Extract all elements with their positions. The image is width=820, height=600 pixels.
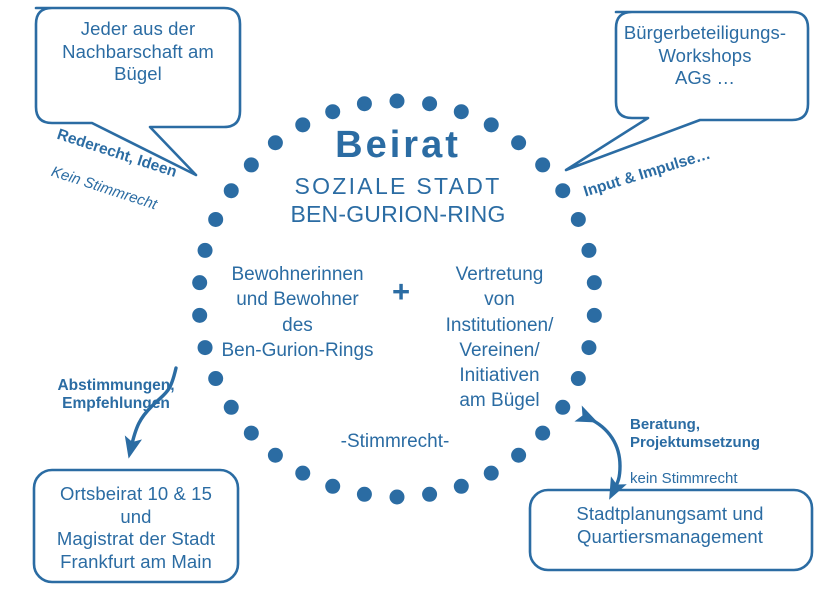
page-subtitle-primary: SOZIALE STADT — [253, 175, 543, 198]
callout-neighbourhood-label: Jeder aus der Nachbarschaft am Bügel — [34, 18, 242, 86]
ring-dot — [555, 183, 570, 198]
ring-dot — [571, 212, 586, 227]
ring-dot — [357, 96, 372, 111]
ring-dot — [390, 490, 405, 505]
diagram-canvas: Jeder aus der Nachbarschaft am Bügel Bür… — [0, 0, 820, 600]
ring-dot — [357, 487, 372, 502]
page-title: Beirat — [253, 126, 543, 164]
callout-participation-label: Bürgerbeteiligungs- Workshops AGs … — [606, 22, 804, 90]
ring-dot — [581, 340, 596, 355]
ring-dot — [224, 400, 239, 415]
ring-dot — [268, 448, 283, 463]
annotation-beratung-regular: kein Stimmrecht — [630, 470, 790, 488]
ring-dot — [295, 466, 310, 481]
ring-dot — [390, 94, 405, 109]
ring-dot — [484, 466, 499, 481]
annotation-abstimmungen: Abstimmungen, Empfehlungen — [46, 358, 186, 432]
annotation-beratung-bold: Beratung, Projektumsetzung — [630, 416, 790, 452]
box-stadtplanungsamt-label: Stadtplanungsamt und Quartiersmanagement — [536, 503, 804, 548]
ring-dot — [208, 371, 223, 386]
ring-dot — [422, 96, 437, 111]
ring-dot — [244, 426, 259, 441]
ring-dot — [581, 243, 596, 258]
ring-dot — [587, 308, 602, 323]
ring-column-institutions: Vertretung von Institutionen/ Vereinen/ … — [422, 262, 577, 414]
ring-dot — [454, 104, 469, 119]
page-subtitle-secondary: BEN-GURION-RING — [253, 203, 543, 226]
annotation-beratung: Beratung, Projektumsetzung kein Stimmrec… — [630, 398, 790, 506]
ring-dot — [587, 275, 602, 290]
ring-column-residents: Bewohnerinnen und Bewohner des Ben-Gurio… — [205, 262, 390, 363]
box-ortsbeirat-label: Ortsbeirat 10 & 15 und Magistrat der Sta… — [40, 483, 232, 573]
ring-dot — [325, 104, 340, 119]
ring-dot — [325, 479, 340, 494]
ring-dot — [511, 448, 526, 463]
ring-dot — [422, 487, 437, 502]
ring-dot — [454, 479, 469, 494]
annotation-abstimmungen-bold: Abstimmungen, Empfehlungen — [46, 377, 186, 414]
ring-dot — [535, 426, 550, 441]
ring-footer-note: -Stimmrecht- — [300, 430, 490, 453]
plus-icon: + — [384, 276, 418, 307]
beratung-arrow-path — [588, 418, 620, 490]
